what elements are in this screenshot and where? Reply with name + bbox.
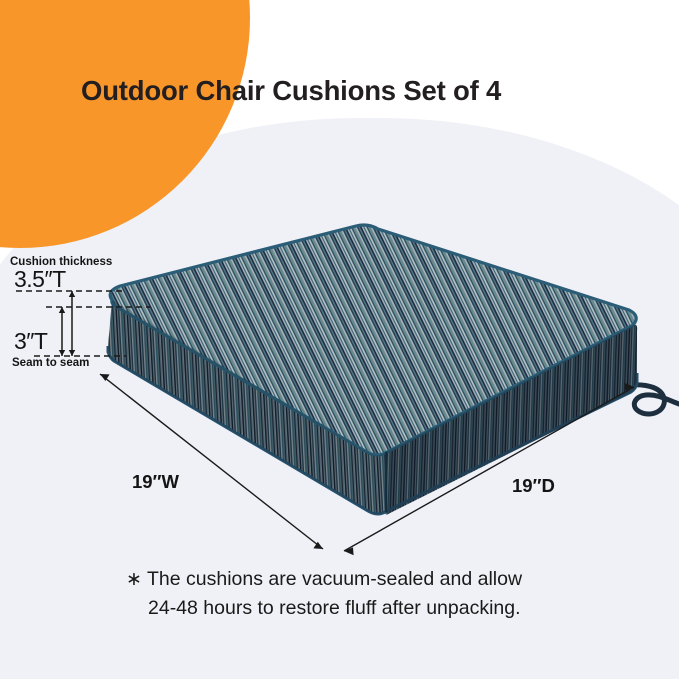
label-depth-value: 19″D bbox=[512, 475, 555, 497]
page-title: Outdoor Chair Cushions Set of 4 bbox=[81, 75, 501, 107]
dim-arrow-thickness bbox=[69, 291, 75, 356]
footnote-line-2: 24-48 hours to restore fluff after unpac… bbox=[126, 594, 522, 623]
label-thickness-value: 3.5″T bbox=[14, 266, 66, 293]
label-seam-value: 3″T bbox=[14, 328, 47, 355]
label-width-value: 19″W bbox=[132, 471, 179, 493]
label-seam-to-seam: Seam to seam bbox=[12, 357, 89, 369]
footnote-line-1: The cushions are vacuum-sealed and allow bbox=[147, 568, 522, 590]
asterisk-icon: ∗ bbox=[126, 569, 142, 590]
footnote: ∗ The cushions are vacuum-sealed and all… bbox=[126, 565, 522, 623]
infographic-canvas: Outdoor Chair Cushions Set of 4 bbox=[0, 0, 679, 679]
dim-arrow-seam bbox=[59, 307, 65, 356]
